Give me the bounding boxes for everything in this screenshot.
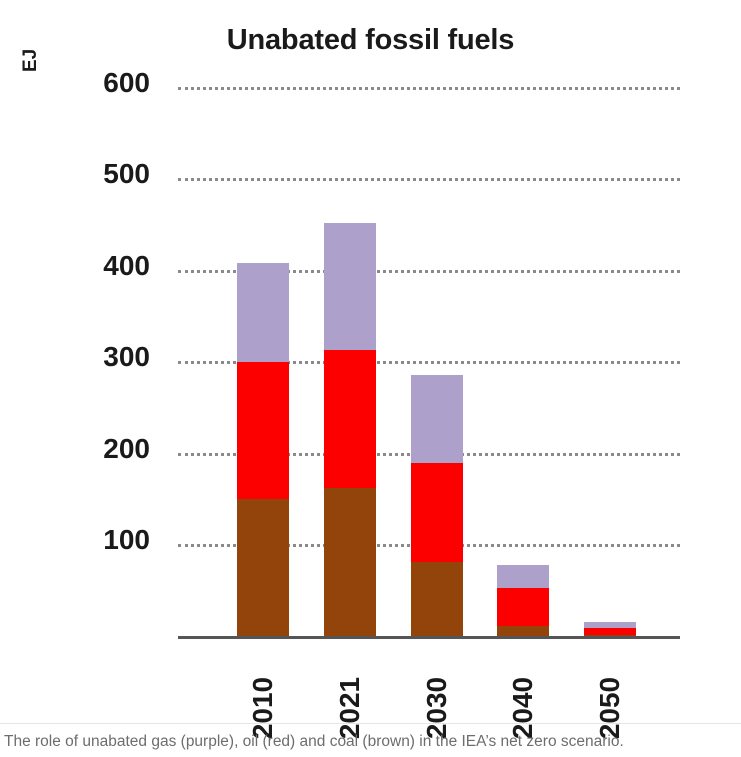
bar-segment-oil[interactable] (584, 628, 636, 635)
bar-2010[interactable] (237, 263, 289, 637)
y-tick-label: 100 (40, 524, 150, 556)
y-tick-label: 200 (40, 433, 150, 465)
y-tick-label: 500 (40, 158, 150, 190)
bar-segment-oil[interactable] (237, 362, 289, 498)
bar-segment-coal[interactable] (411, 562, 463, 637)
chart-caption: The role of unabated gas (purple), oil (… (4, 732, 734, 752)
bar-segment-gas[interactable] (497, 565, 549, 588)
gridline (178, 178, 680, 181)
bar-segment-oil[interactable] (411, 463, 463, 562)
bar-2050[interactable] (584, 622, 636, 637)
bar-segment-gas[interactable] (411, 375, 463, 463)
x-axis-line (178, 636, 680, 639)
bar-segment-coal[interactable] (324, 488, 376, 637)
bar-segment-coal[interactable] (237, 499, 289, 637)
y-tick-label: 400 (40, 250, 150, 282)
gridline (178, 87, 680, 90)
y-axis-label: EJ (20, 49, 42, 72)
bar-2030[interactable] (411, 375, 463, 637)
bar-2040[interactable] (497, 565, 549, 637)
plot-area (178, 0, 680, 637)
bar-2021[interactable] (324, 223, 376, 637)
chart-figure: Unabated fossil fuels EJ 100200300400500… (0, 0, 741, 757)
y-tick-label: 300 (40, 341, 150, 373)
bar-segment-gas[interactable] (324, 223, 376, 349)
divider (0, 723, 741, 724)
y-tick-label: 600 (40, 67, 150, 99)
bar-segment-oil[interactable] (497, 588, 549, 626)
bar-segment-oil[interactable] (324, 350, 376, 488)
bar-segment-gas[interactable] (237, 263, 289, 362)
